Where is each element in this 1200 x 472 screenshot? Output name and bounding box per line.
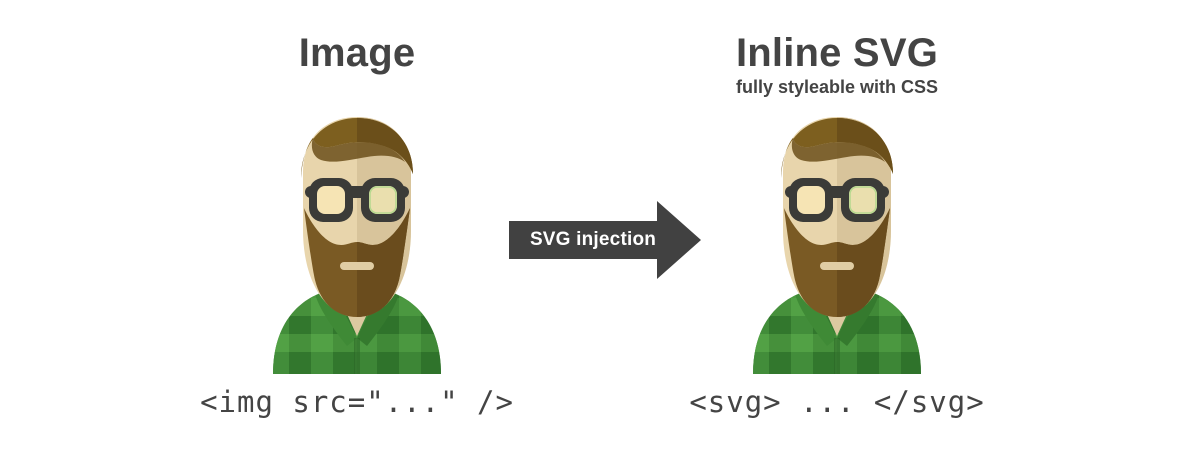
page-subtitle-inline-svg: fully styleable with CSS — [627, 78, 1047, 96]
code-caption-svg: <svg> ... </svg> — [627, 385, 1047, 419]
illustration-canvas: Image — [0, 0, 1200, 472]
panel-inline-svg: Inline SVG fully styleable with CSS — [627, 0, 1047, 472]
page-title-image: Image — [147, 33, 567, 73]
code-caption-img: <img src="..." /> — [147, 385, 567, 419]
avatar-image — [257, 112, 457, 374]
panel-image: Image — [147, 0, 567, 472]
avatar-inline-svg — [737, 112, 937, 374]
page-title-inline-svg: Inline SVG — [627, 33, 1047, 73]
